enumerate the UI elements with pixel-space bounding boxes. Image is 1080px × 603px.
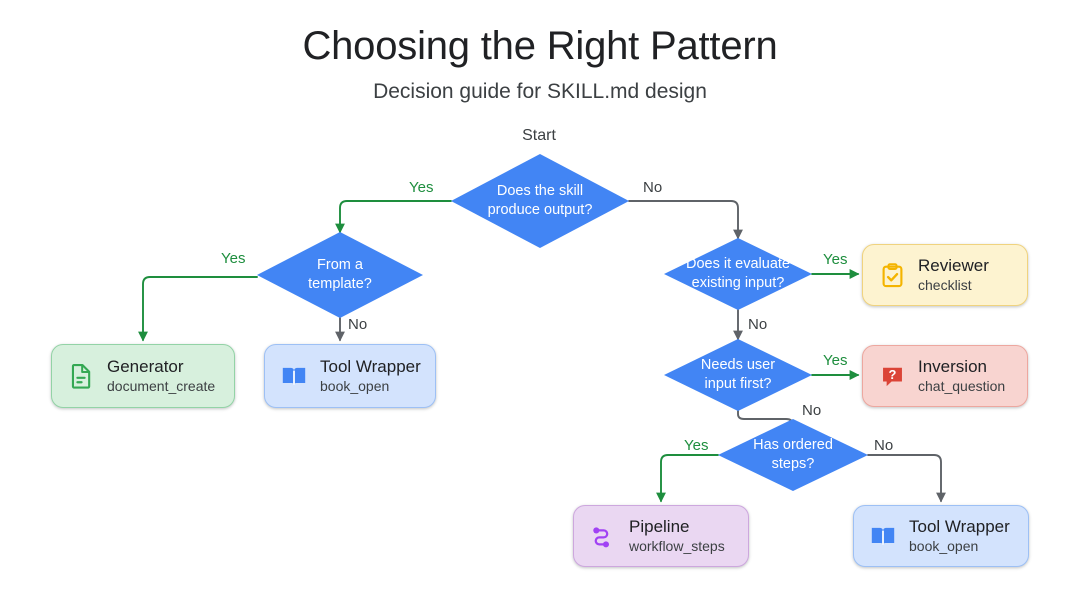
terminal-tool-wrapper-2[interactable]: Tool Wrapper book_open [853,505,1029,567]
document-icon [66,361,96,391]
edge-label-d5-yes: Yes [684,437,708,454]
decision-needs-user-input-first[interactable]: Needs user input first? [664,339,812,411]
edge-label-d2-no: No [348,316,367,333]
decision-label: Does the skill produce output? [482,182,599,219]
terminal-sub: book_open [320,378,421,395]
terminal-name: Generator [107,357,215,376]
svg-text:?: ? [888,367,896,382]
book-open-icon [279,361,309,391]
edge-label-d3-no: No [748,316,767,333]
terminal-reviewer[interactable]: Reviewer checklist [862,244,1028,306]
workflow-steps-icon [588,521,618,551]
page-title: Choosing the Right Pattern [0,24,1080,69]
page-subtitle: Decision guide for SKILL.md design [0,80,1080,104]
decision-label: From a template? [302,256,378,293]
decision-from-a-template[interactable]: From a template? [257,232,423,318]
decision-label: Has ordered steps? [747,436,839,473]
flowchart-canvas: Choosing the Right Pattern Decision guid… [0,0,1080,603]
terminal-text: Tool Wrapper book_open [320,357,421,395]
terminal-text: Generator document_create [107,357,215,395]
terminal-sub: checklist [918,277,989,294]
terminal-tool-wrapper-1[interactable]: Tool Wrapper book_open [264,344,436,408]
edge-label-d4-yes: Yes [823,352,847,369]
chat-question-icon: ? [877,361,907,391]
terminal-sub: workflow_steps [629,538,725,555]
decision-label: Does it evaluate existing input? [680,255,796,292]
edge-label-d3-yes: Yes [823,251,847,268]
decision-has-ordered-steps[interactable]: Has ordered steps? [718,419,868,491]
edge-d2-yes [143,277,257,340]
edge-d1-yes [340,201,451,232]
terminal-text: Pipeline workflow_steps [629,517,725,555]
terminal-text: Reviewer checklist [918,256,989,294]
terminal-text: Tool Wrapper book_open [909,517,1010,555]
edge-d5-no [868,455,941,501]
decision-does-skill-produce-output[interactable]: Does the skill produce output? [451,154,629,248]
terminal-name: Inversion [918,357,1005,376]
terminal-name: Tool Wrapper [320,357,421,376]
terminal-sub: chat_question [918,378,1005,395]
terminal-name: Tool Wrapper [909,517,1010,536]
edge-label-d1-no: No [643,179,662,196]
terminal-generator[interactable]: Generator document_create [51,344,235,408]
book-open-icon [868,521,898,551]
start-label: Start [493,127,585,145]
decision-does-it-evaluate-existing-input[interactable]: Does it evaluate existing input? [664,238,812,310]
edge-label-d5-no: No [874,437,893,454]
terminal-inversion[interactable]: ? Inversion chat_question [862,345,1028,407]
terminal-pipeline[interactable]: Pipeline workflow_steps [573,505,749,567]
terminal-text: Inversion chat_question [918,357,1005,395]
terminal-name: Pipeline [629,517,725,536]
edge-d1-no [629,201,738,238]
edge-label-d1-yes: Yes [409,179,433,196]
terminal-sub: book_open [909,538,1010,555]
decision-label: Needs user input first? [695,356,781,393]
edge-d5-yes [661,455,718,501]
terminal-name: Reviewer [918,256,989,275]
edge-label-d2-yes: Yes [221,250,245,267]
clipboard-check-icon [877,260,907,290]
terminal-sub: document_create [107,378,215,395]
